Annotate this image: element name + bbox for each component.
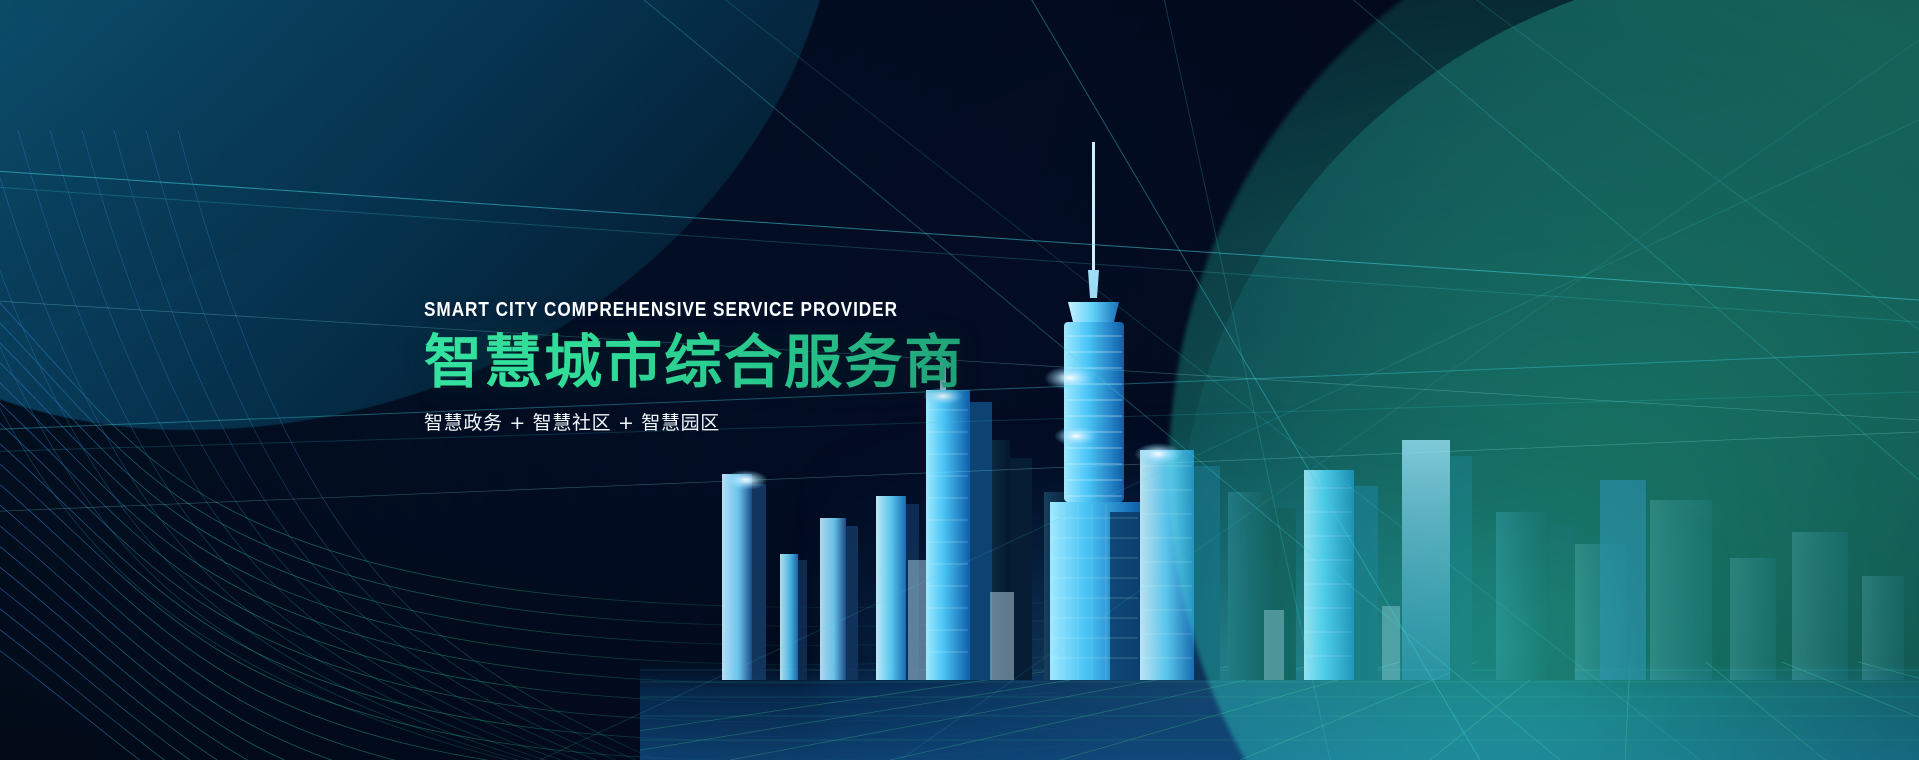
hero-banner: SMART CITY COMPREHENSIVE SERVICE PROVIDE… [0,0,1919,760]
right-green-curve [1169,0,1919,760]
hero-copy: SMART CITY COMPREHENSIVE SERVICE PROVIDE… [424,300,1184,435]
hero-eyebrow: SMART CITY COMPREHENSIVE SERVICE PROVIDE… [424,300,1078,321]
hero-subcopy: 智慧政务 + 智慧社区 + 智慧园区 [424,408,1184,435]
hero-headline: 智慧城市综合服务商 [424,331,1184,394]
